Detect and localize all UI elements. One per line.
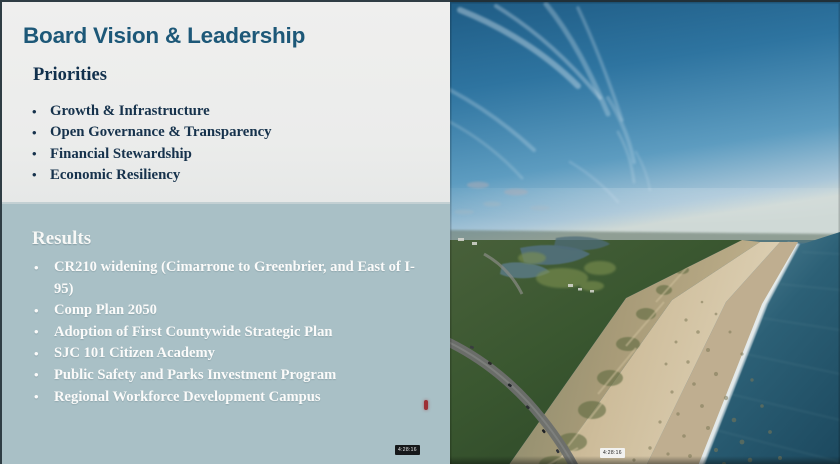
laser-pointer-marker <box>424 400 428 410</box>
coastline-image <box>450 2 840 464</box>
priorities-heading: Priorities <box>33 65 107 86</box>
slide-timecode-badge: 4:28:16 <box>395 445 420 455</box>
results-list: CR210 widening (Cimarrone to Greenbrier,… <box>28 257 428 408</box>
list-item: CR210 widening (Cimarrone to Greenbrier,… <box>28 257 428 300</box>
list-item: Public Safety and Parks Investment Progr… <box>28 365 428 387</box>
presentation-screenshot: Board Vision & Leadership Priorities Gro… <box>0 0 840 464</box>
list-item: Growth & Infrastructure <box>28 101 272 122</box>
list-item: Economic Resiliency <box>28 165 272 186</box>
list-item: SJC 101 Citizen Academy <box>28 343 428 365</box>
list-item: Open Governance & Transparency <box>28 122 272 143</box>
priorities-section: Board Vision & Leadership Priorities Gro… <box>2 2 450 202</box>
priorities-list: Growth & Infrastructure Open Governance … <box>28 101 272 186</box>
results-heading: Results <box>32 228 91 250</box>
list-item: Financial Stewardship <box>28 144 272 165</box>
aerial-coastline-photo: 4:28:16 <box>450 0 840 464</box>
list-item: Comp Plan 2050 <box>28 300 428 322</box>
list-item: Regional Workforce Development Campus <box>28 387 428 409</box>
slide-panel: Board Vision & Leadership Priorities Gro… <box>0 0 450 464</box>
list-item: Adoption of First Countywide Strategic P… <box>28 322 428 344</box>
slide-title: Board Vision & Leadership <box>23 23 305 49</box>
video-timecode-badge: 4:28:16 <box>600 448 625 458</box>
